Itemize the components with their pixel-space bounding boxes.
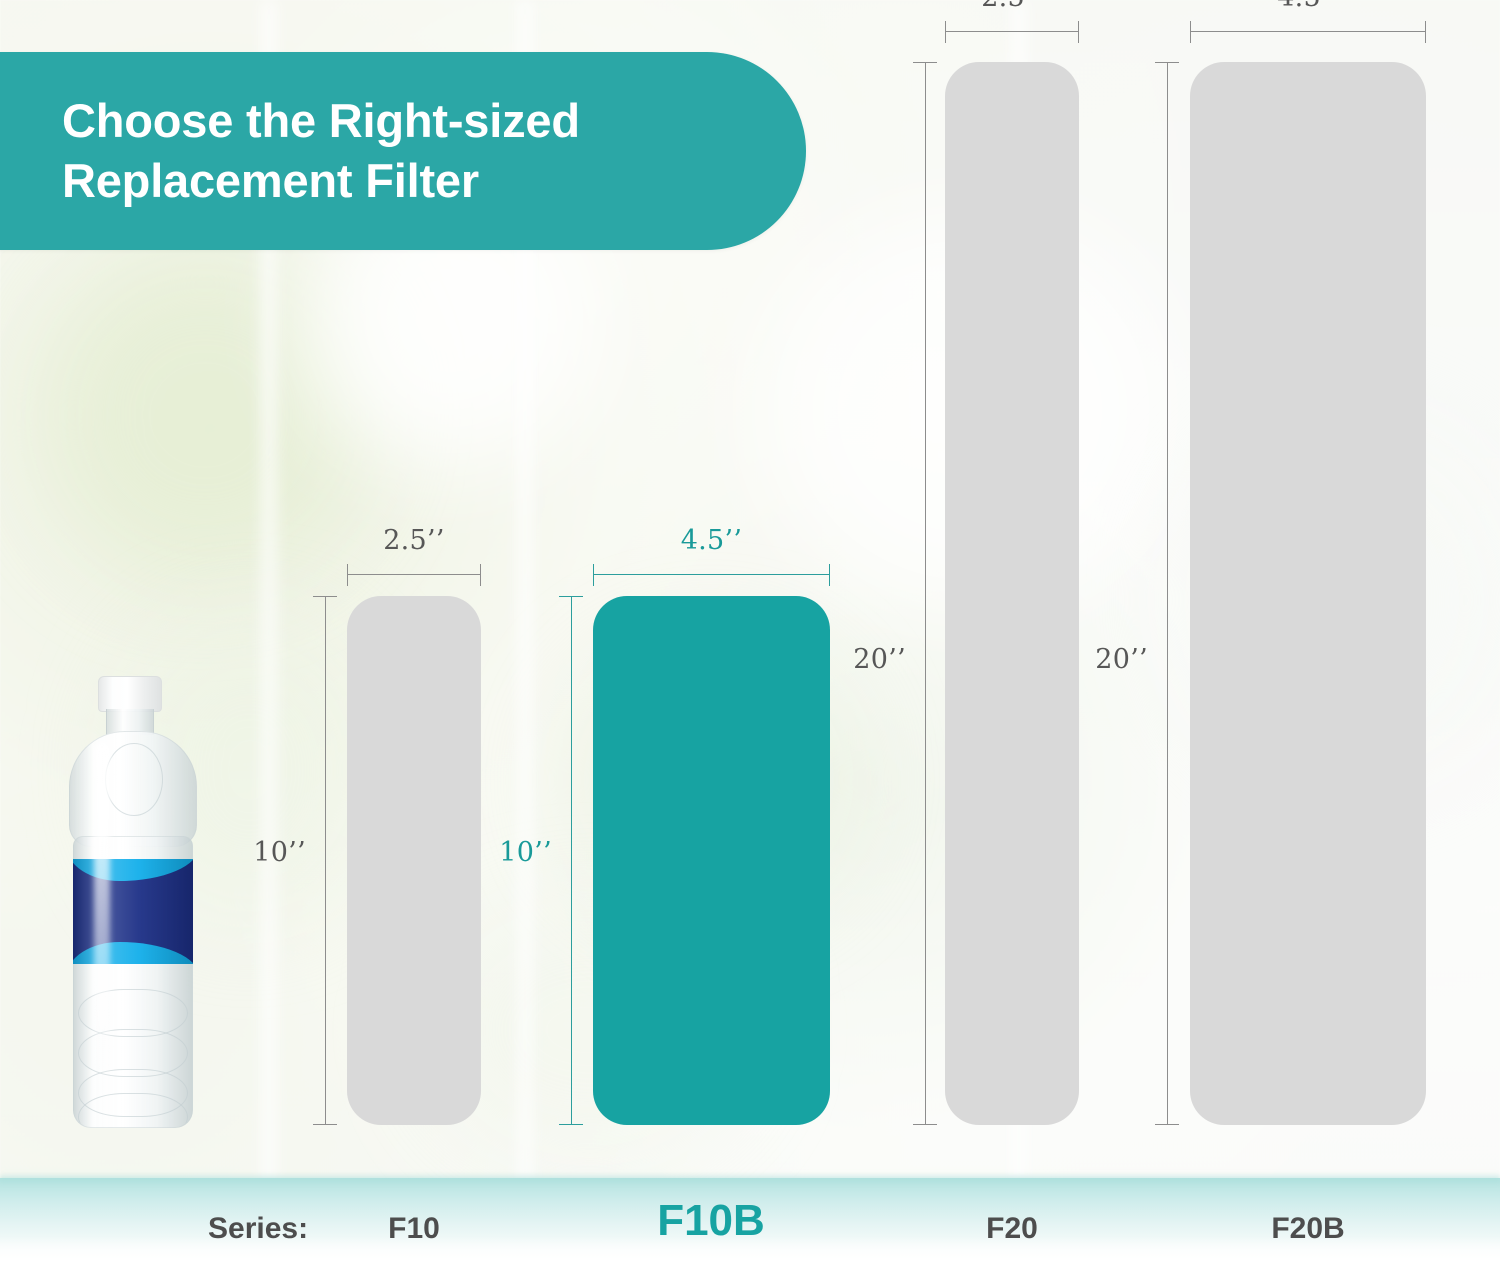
height-dimension-f10: 10’’ (310, 596, 340, 1125)
dimension-rule (925, 62, 926, 1125)
dimension-rule (571, 596, 572, 1125)
width-label-f20b: 4.5’’ (1190, 0, 1426, 13)
dimension-rule (593, 574, 830, 575)
filter-bar-f20 (945, 62, 1079, 1125)
title-banner: Choose the Right-sized Replacement Filte… (0, 52, 806, 250)
series-name-f20b: F20B (1188, 1212, 1428, 1246)
bottle-ridge (78, 1093, 188, 1128)
dimension-cap-left (347, 564, 348, 586)
water-bottle-image (60, 676, 222, 1128)
dimension-rule (945, 31, 1079, 32)
series-name-f10: F10 (344, 1212, 484, 1246)
width-dimension-f20b: 4.5’’ (1190, 18, 1426, 44)
filter-bar-f10 (347, 596, 481, 1125)
dimension-cap-left (593, 564, 594, 586)
series-row-label: Series: (208, 1212, 308, 1246)
height-dimension-f10b: 10’’ (556, 596, 586, 1125)
height-dimension-f20b: 20’’ (1152, 62, 1182, 1125)
series-name-f10b: F10B (591, 1196, 831, 1246)
dimension-cap-right (1078, 21, 1079, 43)
width-label-f10b: 4.5’’ (593, 525, 830, 556)
dimension-cap-right (1425, 21, 1426, 43)
dimension-cap-left (1190, 21, 1191, 43)
bottle-cap (98, 676, 162, 712)
width-dimension-f10: 2.5’’ (347, 561, 481, 587)
bottle-label (73, 859, 193, 964)
width-dimension-f10b: 4.5’’ (593, 561, 830, 587)
width-label-f20: 2.5’’ (945, 0, 1079, 13)
height-dimension-f20: 20’’ (910, 62, 940, 1125)
filter-bar-f20b (1190, 62, 1426, 1125)
dimension-rule (1190, 31, 1426, 32)
dimension-rule (1167, 62, 1168, 1125)
page-title: Choose the Right-sized Replacement Filte… (62, 91, 580, 211)
height-label-f20: 20’’ (853, 644, 906, 675)
dimension-rule (347, 574, 481, 575)
bottle-highlight (94, 742, 110, 1072)
filter-bar-f10b (593, 596, 830, 1125)
width-dimension-f20: 2.5’’ (945, 18, 1079, 44)
bottle-shoulder (69, 731, 197, 847)
infographic-canvas: Choose the Right-sized Replacement Filte… (0, 0, 1500, 1262)
page-title-line-1: Choose the Right-sized (62, 91, 580, 151)
height-label-f10: 10’’ (253, 837, 306, 868)
series-name-f20: F20 (942, 1212, 1082, 1246)
dimension-cap-right (480, 564, 481, 586)
width-label-f10: 2.5’’ (347, 525, 481, 556)
bottle-label-gloss (73, 859, 193, 964)
height-label-f20b: 20’’ (1095, 644, 1148, 675)
height-label-f10b: 10’’ (499, 837, 552, 868)
dimension-rule (325, 596, 326, 1125)
dimension-cap-left (945, 21, 946, 43)
dimension-cap-right (829, 564, 830, 586)
page-title-line-2: Replacement Filter (62, 151, 580, 211)
